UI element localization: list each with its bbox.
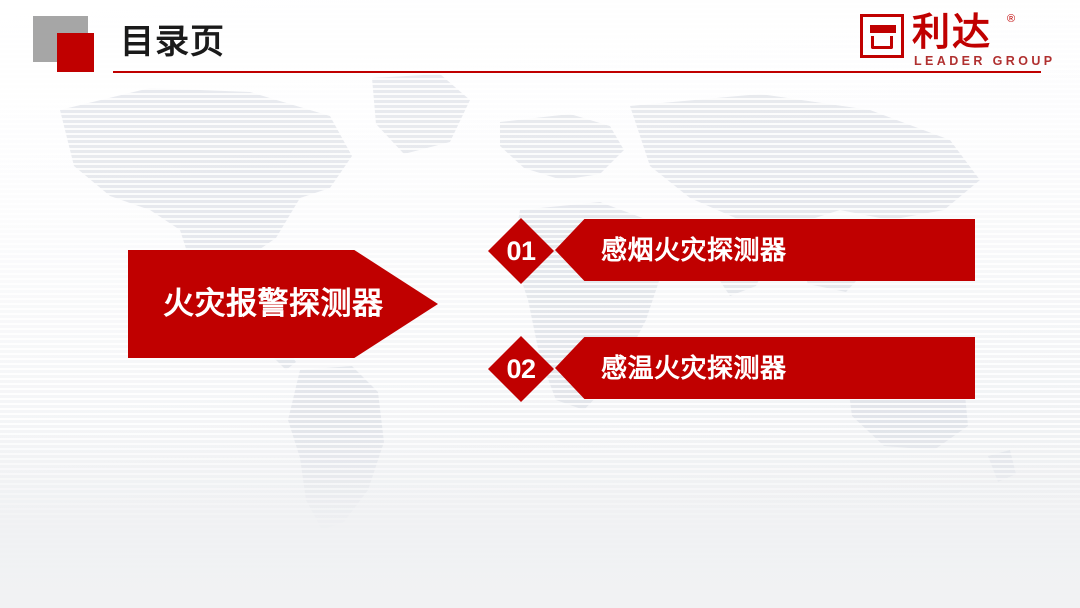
background-bottom-fade	[0, 428, 1080, 608]
logo-chinese-name: 利达	[912, 12, 992, 52]
toc-item-number-diamond: 01	[488, 218, 554, 284]
toc-item-number: 02	[506, 355, 535, 383]
logo-mark-cup	[871, 36, 893, 49]
toc-item-label: 感烟火灾探测器	[601, 235, 787, 265]
registered-trademark-icon: ®	[1007, 14, 1015, 25]
toc-item-01[interactable]: 01 感烟火灾探测器	[488, 216, 980, 284]
toc-item-label: 感温火灾探测器	[601, 353, 787, 383]
section-arrow: 火灾报警探测器	[128, 250, 438, 358]
toc-item-bar[interactable]: 感温火灾探测器	[555, 337, 975, 399]
decorative-red-square	[57, 33, 94, 72]
header-divider	[113, 71, 1041, 73]
slide-root: 目录页 利达 ® LEADER GROUP 火灾报警探测器 01 感烟火灾探测器…	[0, 0, 1080, 608]
section-arrow-label: 火灾报警探测器	[163, 286, 384, 322]
logo-english-name: LEADER GROUP	[914, 54, 1056, 68]
toc-item-bar[interactable]: 感烟火灾探测器	[555, 219, 975, 281]
logo-mark-bar	[870, 25, 896, 33]
toc-item-number-diamond: 02	[488, 336, 554, 402]
toc-item-number: 01	[506, 237, 535, 265]
brand-logo: 利达 ® LEADER GROUP	[860, 14, 1040, 70]
page-title: 目录页	[120, 20, 225, 64]
leader-square-mark-icon	[860, 14, 904, 58]
toc-item-02[interactable]: 02 感温火灾探测器	[488, 334, 980, 402]
